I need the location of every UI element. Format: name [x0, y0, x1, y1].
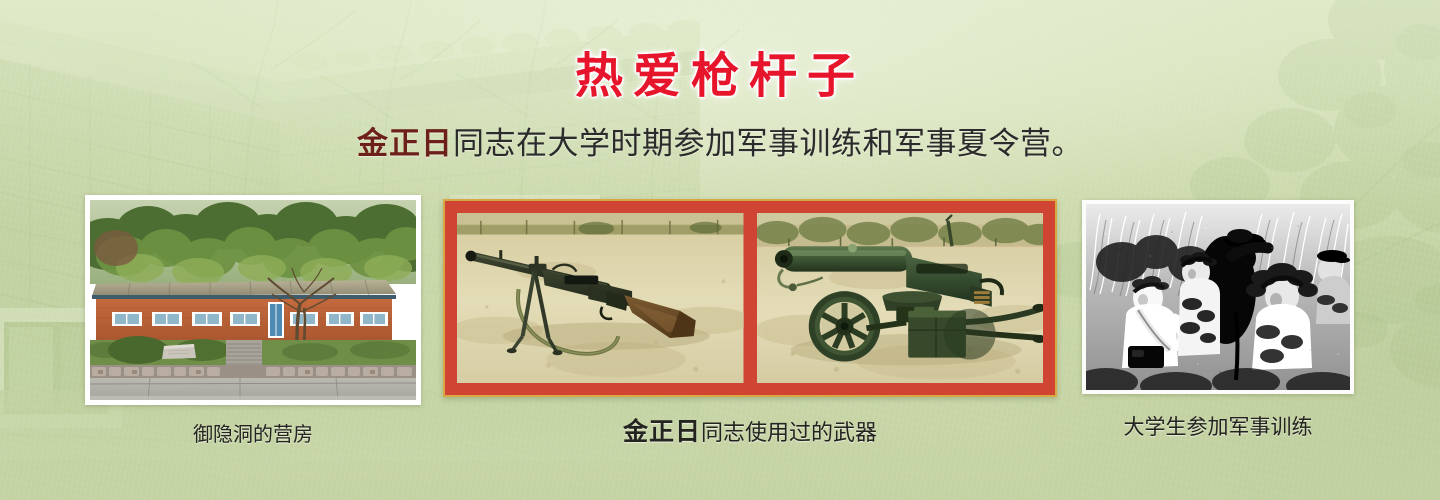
subtitle-leader-name: 金正日	[357, 126, 453, 162]
photo-weapons-caption-name: 金正日	[623, 417, 701, 446]
photo-students-image	[1086, 204, 1350, 390]
photo-barracks-image	[90, 200, 416, 400]
photo-weapon-light-machine-gun	[457, 213, 744, 383]
photo-weapon-wheeled-heavy-machine-gun	[757, 213, 1044, 383]
subtitle-text: 同志在大学时期参加军事训练和军事夏令营。	[453, 126, 1083, 162]
photo-barracks-caption: 御隐洞的营房	[85, 418, 421, 447]
photo-students-caption: 大学生参加军事训练	[1078, 411, 1358, 441]
photo-students	[1082, 200, 1354, 394]
banner-root: 热爱枪杆子 金正日同志在大学时期参加军事训练和军事夏令营。	[0, 0, 1440, 500]
photo-weapons-caption: 金正日同志使用过的武器	[440, 412, 1060, 448]
banner-title: 热爱枪杆子	[0, 36, 1440, 106]
banner-subtitle: 金正日同志在大学时期参加军事训练和军事夏令营。	[0, 124, 1440, 164]
photo-weapons-caption-text: 同志使用过的武器	[701, 421, 877, 446]
photo-weapons	[443, 199, 1057, 397]
photo-barracks	[85, 195, 421, 405]
